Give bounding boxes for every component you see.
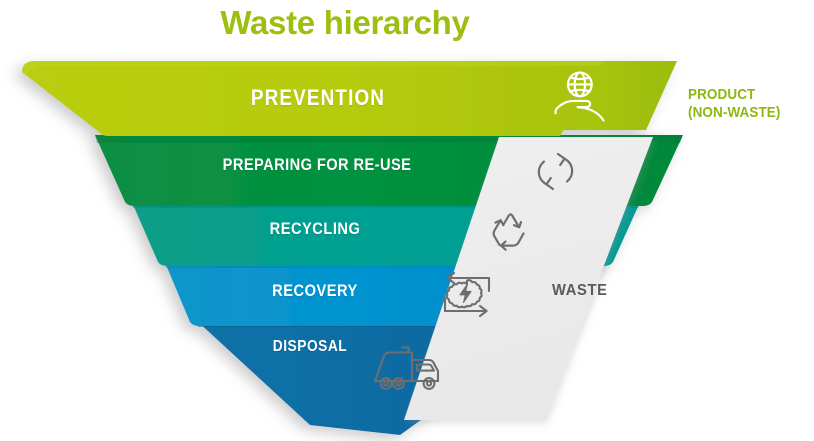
- product-annotation: PRODUCT (NON-WASTE): [688, 86, 800, 123]
- product-annotation-line2: (NON-WASTE): [688, 104, 800, 122]
- waste-annotation: WASTE: [552, 282, 608, 300]
- band-label-preparing-for-re-use: PREPARING FOR RE-USE: [149, 155, 484, 175]
- product-annotation-line1: PRODUCT: [688, 86, 800, 104]
- waste-hierarchy-infographic: Waste hierarchy: [0, 0, 814, 441]
- band-label-disposal: DISPOSAL: [181, 338, 439, 356]
- band-label-recovery: RECOVERY: [173, 281, 457, 301]
- band-label-prevention: PREVENTION: [146, 85, 490, 111]
- band-label-recycling: RECYCLING: [165, 219, 466, 239]
